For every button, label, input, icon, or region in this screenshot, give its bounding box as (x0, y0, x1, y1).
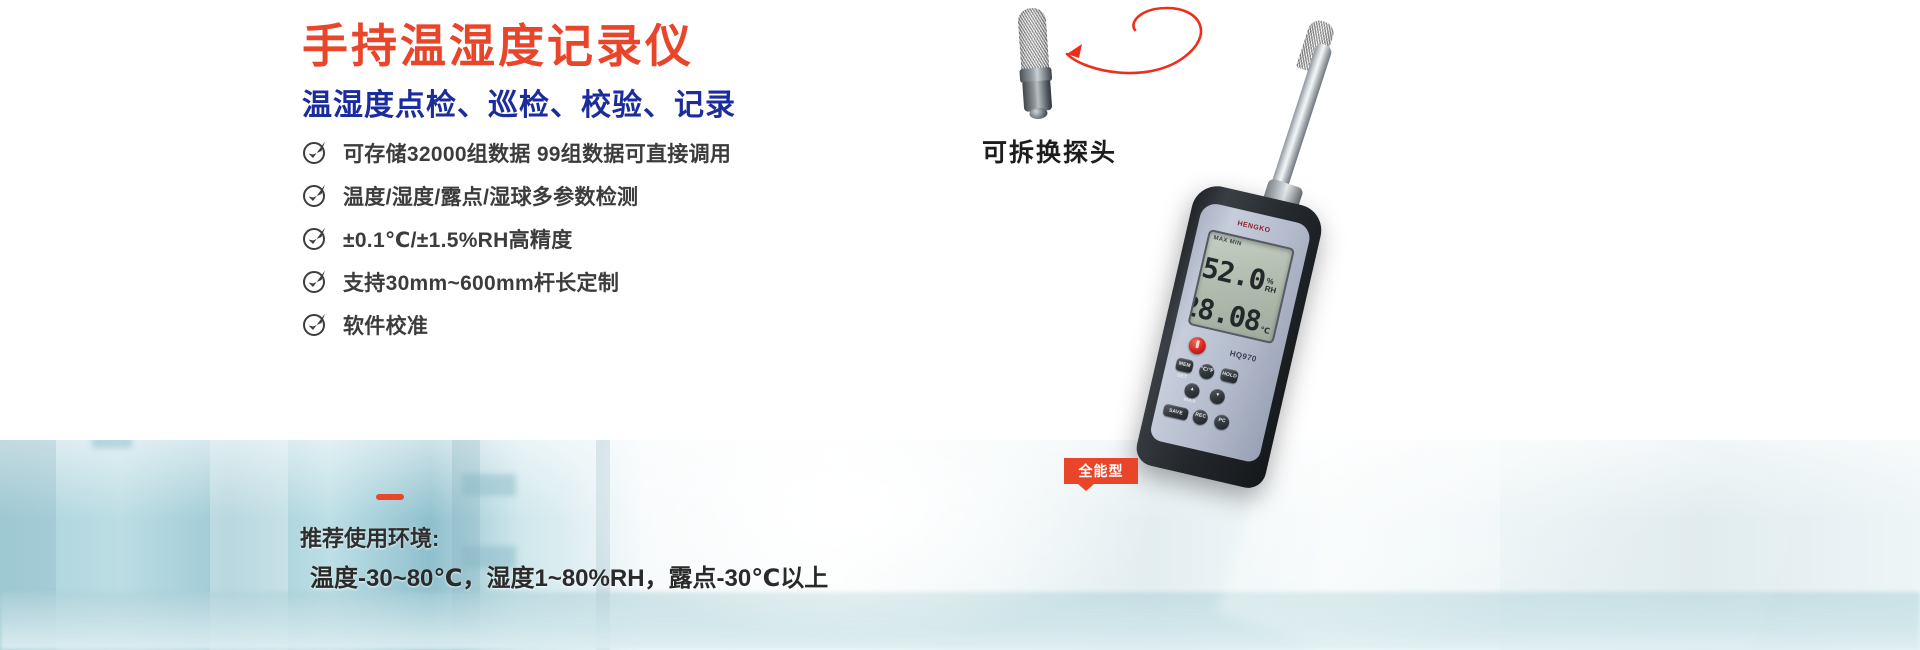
list-item-label: 支持30mm~600mm杆长定制 (343, 267, 619, 297)
list-item: 支持30mm~600mm杆长定制 (302, 260, 1002, 303)
list-item-label: 软件校准 (343, 310, 428, 340)
probe-connector-tip (1029, 107, 1048, 119)
lcd-temperature-unit: ℃ (1259, 326, 1270, 336)
check-circle-icon (302, 268, 328, 294)
list-item: 软件校准 (302, 303, 1002, 346)
device-key: REC (1191, 408, 1209, 426)
probe-callout-label: 可拆换探头 (982, 133, 1117, 169)
background-cabinet-detail (92, 440, 132, 448)
status-badge: 全能型 (1064, 458, 1138, 484)
lcd-humidity-unit: % RH (1264, 277, 1282, 296)
device-key: SAVE (1162, 403, 1189, 420)
handheld-meter-image: HENGKO MAX MIN 52.0 % RH 28.08 ℃ HQ970 M… (1093, 8, 1401, 503)
device-key: MEM SET (1175, 357, 1194, 373)
check-circle-icon (302, 182, 328, 208)
list-item-label: ±0.1℃/±1.5%RH高精度 (343, 224, 573, 254)
device-key: HOLD (1220, 367, 1239, 383)
detachable-probe-image (1014, 7, 1058, 121)
background-cabinet-detail (462, 474, 516, 496)
check-circle-icon (302, 311, 328, 337)
list-item-label: 可存储32000组数据 99组数据可直接调用 (343, 138, 731, 168)
probe-sintered-mesh (1017, 7, 1049, 71)
check-circle-icon (302, 139, 328, 165)
list-item: 可存储32000组数据 99组数据可直接调用 (302, 131, 1002, 174)
page-subtitle: 温湿度点检、巡检、校验、记录 (302, 80, 736, 124)
recommended-environment-title: 推荐使用环境: (300, 521, 439, 553)
device-key: PC (1213, 413, 1231, 431)
product-banner: 手持温湿度记录仪 温湿度点检、巡检、校验、记录 可存储32000组数据 99组数… (0, 0, 1920, 650)
lab-background-band (0, 440, 1920, 650)
page-title: 手持温湿度记录仪 (302, 10, 694, 76)
device-key: ▼ (1208, 388, 1226, 406)
check-circle-icon (302, 225, 328, 251)
list-item: 温度/湿度/露点/湿球多参数检测 (302, 174, 1002, 217)
feature-list: 可存储32000组数据 99组数据可直接调用 温度/湿度/露点/湿球多参数检测 … (302, 131, 1002, 346)
device-key: ℃/℉ (1198, 362, 1216, 380)
list-item-label: 温度/湿度/露点/湿球多参数检测 (343, 181, 638, 211)
accent-dash (376, 494, 404, 500)
recommended-environment-values: 温度-30~80℃，湿度1~80%RH，露点-30℃以上 (310, 558, 828, 593)
device-key: ▲ MAX (1183, 382, 1201, 400)
list-item: ±0.1℃/±1.5%RH高精度 (302, 217, 1002, 260)
